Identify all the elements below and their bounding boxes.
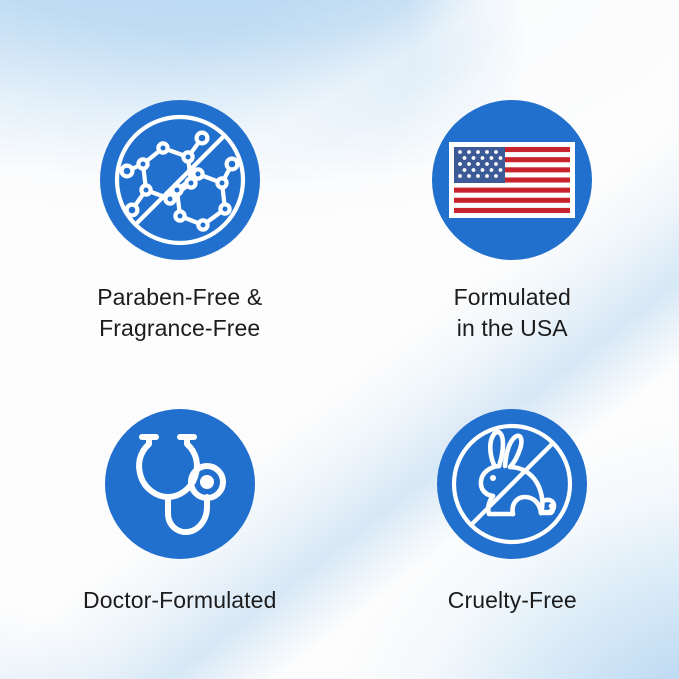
stethoscope-diaphragm [200,475,214,489]
badge-circle [105,409,255,559]
badge-circle [432,100,592,260]
stethoscope-icon [105,409,255,559]
rabbit-eye [490,475,496,481]
badge-label: Cruelty-Free [448,585,577,616]
badge-label: Paraben-Free & Fragrance-Free [97,282,262,344]
badge-formulated-in-usa: Formulated in the USA [340,0,679,344]
badge-circle [100,100,260,260]
badge-doctor-formulated: Doctor-Formulated [0,344,340,679]
rabbit-silhouette [481,432,554,514]
badge-circle [437,409,587,559]
badge-cruelty-free: Cruelty-Free [340,344,679,679]
badge-label: Formulated in the USA [454,282,571,344]
no-rabbit-icon [437,409,587,559]
usa-flag-icon [432,100,592,260]
no-paraben-molecule-icon [100,100,260,260]
badge-label: Doctor-Formulated [83,585,276,616]
badge-paraben-fragrance-free: Paraben-Free & Fragrance-Free [0,0,340,344]
benefit-badges-graphic: Paraben-Free & Fragrance-Free [0,0,679,679]
badge-grid: Paraben-Free & Fragrance-Free [0,0,679,679]
